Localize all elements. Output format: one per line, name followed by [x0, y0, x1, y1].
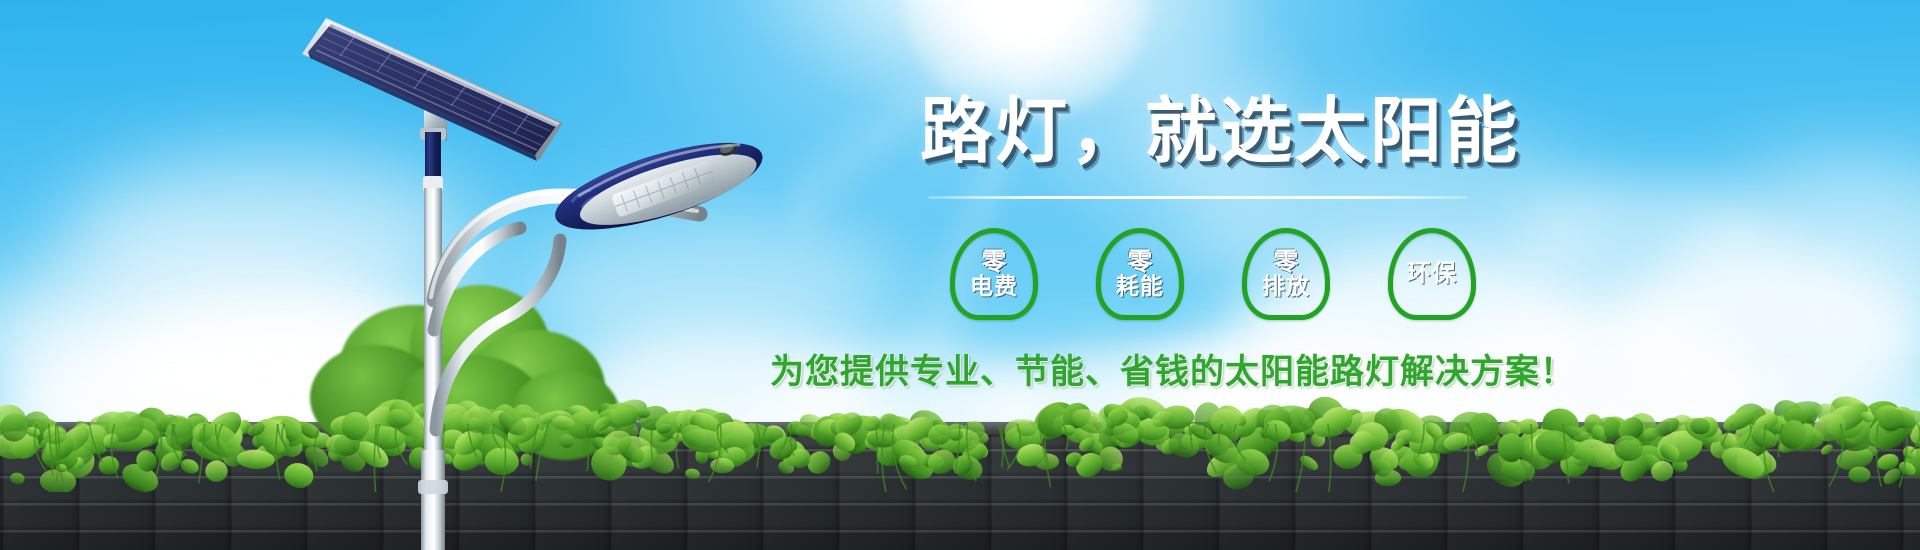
feature-badge-2: 零耗能: [1096, 228, 1184, 320]
title-divider: [928, 196, 1468, 199]
feature-badge-3: 零排放: [1242, 228, 1330, 320]
tagline: 为您提供专业、节能、省钱的太阳能路灯解决方案！: [770, 355, 1575, 389]
page-title: 路灯，就选太阳能: [920, 95, 1520, 167]
feature-badge-list: 零电费零耗能零排放环保: [950, 228, 1476, 320]
badge-zero-symbol: 零: [1127, 249, 1152, 274]
solar-streetlight-banner: 路灯，就选太阳能 零电费零耗能零排放环保 为您提供专业、节能、省钱的太阳能路灯解…: [0, 0, 1920, 550]
feature-badge-1: 零电费: [950, 228, 1038, 320]
badge-zero-symbol: 零: [1273, 249, 1298, 274]
badge-zero-symbol: 零: [981, 249, 1006, 274]
badge-label: 电费: [970, 275, 1018, 299]
badge-label: 环保: [1407, 261, 1457, 286]
banner-copy: 路灯，就选太阳能 零电费零耗能零排放环保 为您提供专业、节能、省钱的太阳能路灯解…: [0, 0, 1920, 550]
feature-badge-4: 环保: [1388, 228, 1476, 320]
badge-label: 耗能: [1116, 275, 1164, 299]
badge-label: 排放: [1262, 275, 1310, 299]
